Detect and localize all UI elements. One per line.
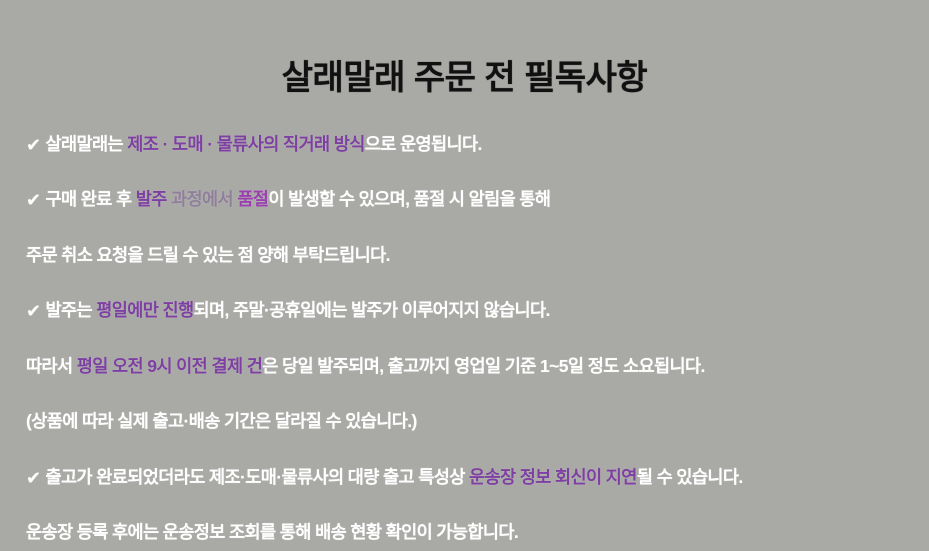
notice-text: 발주는 [45, 300, 96, 320]
check-icon: ✔ [26, 181, 40, 219]
notice-text: 되며, 주말·공휴일에는 발주가 이루어지지 않습니다. [194, 300, 550, 320]
notice-text: (상품에 따라 실제 출고·배송 기간은 달라질 수 있습니다.) [26, 411, 417, 431]
check-icon: ✔ [26, 126, 40, 164]
notice-highlight-text: 과정에서 [167, 189, 238, 209]
notice-text: 될 수 있습니다. [637, 467, 743, 487]
notice-highlight-text: 운송장 정보 회신이 지연 [469, 467, 637, 487]
notice-highlight-text: 발주 [136, 189, 167, 209]
notice-line: ✔구매 완료 후 발주 과정에서 품절이 발생할 수 있으며, 품절 시 알림을… [26, 180, 905, 218]
notice-line: ✔발주는 평일에만 진행되며, 주말·공휴일에는 발주가 이루어지지 않습니다. [26, 291, 905, 329]
notice-text: 으로 운영됩니다. [365, 134, 482, 154]
notice-text: 이 발생할 수 있으며, 품절 시 알림을 통해 [268, 189, 550, 209]
notice-text: 운송장 등록 후에는 운송정보 조회를 통해 배송 현황 확인이 가능합니다. [26, 522, 518, 542]
notice-line: (상품에 따라 실제 출고·배송 기간은 달라질 수 있습니다.) [26, 402, 905, 440]
check-icon: ✔ [26, 459, 40, 497]
notice-text: 구매 완료 후 [45, 189, 135, 209]
notice-highlight-text: 품절 [237, 189, 268, 209]
notice-line: ✔살래말래는 제조 · 도매 · 물류사의 직거래 방식으로 운영됩니다. [26, 125, 905, 163]
notice-line: ✔출고가 완료되었더라도 제조·도매·물류사의 대량 출고 특성상 운송장 정보… [26, 458, 905, 496]
notice-text: 주문 취소 요청을 드릴 수 있는 점 양해 부탁드립니다. [26, 245, 390, 265]
check-icon: ✔ [26, 292, 40, 330]
notice-highlight-text: 평일 오전 9시 이전 결제 건 [77, 356, 262, 376]
notice-text: 출고가 완료되었더라도 제조·도매·물류사의 대량 출고 특성상 [45, 467, 469, 487]
notice-body: ✔살래말래는 제조 · 도매 · 물류사의 직거래 방식으로 운영됩니다.✔구매… [0, 125, 929, 551]
notice-line: 주문 취소 요청을 드릴 수 있는 점 양해 부탁드립니다. [26, 236, 905, 274]
notice-line: 운송장 등록 후에는 운송정보 조회를 통해 배송 현황 확인이 가능합니다. [26, 513, 905, 551]
notice-card: 살래말래 주문 전 필독사항 ✔살래말래는 제조 · 도매 · 물류사의 직거래… [0, 0, 929, 502]
notice-text: 살래말래는 [45, 134, 127, 154]
notice-text: 은 당일 발주되며, 출고까지 영업일 기준 1~5일 정도 소요됩니다. [262, 356, 705, 376]
notice-highlight-text: 제조 · 도매 · 물류사의 직거래 방식 [127, 134, 365, 154]
notice-line: 따라서 평일 오전 9시 이전 결제 건은 당일 발주되며, 출고까지 영업일 … [26, 347, 905, 385]
page-title: 살래말래 주문 전 필독사항 [0, 0, 929, 99]
notice-highlight-text: 평일에만 진행 [96, 300, 193, 320]
notice-text: 따라서 [26, 356, 77, 376]
